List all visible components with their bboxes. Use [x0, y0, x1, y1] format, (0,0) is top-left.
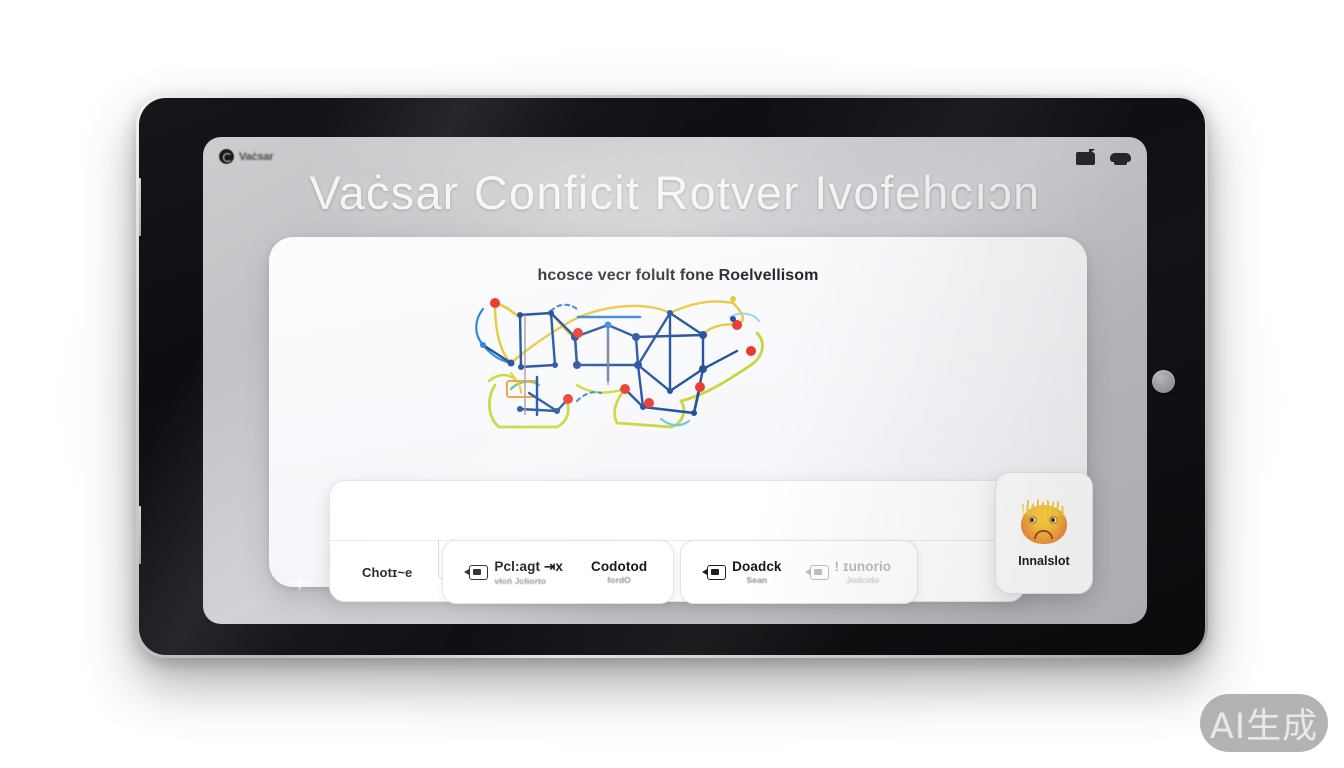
tablet-device: Vaċsar Vaċsar Conficit Rotver Ivofehcıɔn… [136, 95, 1208, 658]
toolbar-item-3-sublabel: Sean [732, 575, 781, 585]
brand-logo[interactable]: Vaċsar [219, 149, 273, 164]
bottom-toolbar: Chotɪ~e Pcl:agt ⇥x vłoń Jcłiorto [329, 480, 1025, 602]
toolbar-item-2-sublabel: fordO [591, 575, 647, 585]
toolbar-item-1-sublabel: vłoń Jcłiorto [494, 576, 563, 586]
screen-share-icon [469, 565, 488, 580]
screen-share-icon [707, 565, 726, 580]
brand-name: Vaċsar [239, 151, 273, 163]
toolbar-item-2-label: Codotod [591, 559, 647, 574]
toolbar-item-1-text: Pcl:agt ⇥x vłoń Jcłiorto [494, 559, 563, 586]
tablet-bezel: Vaċsar Vaċsar Conficit Rotver Ivofehcıɔn… [139, 98, 1205, 655]
toolbar-item-2-text: Codotod fordO [591, 559, 647, 585]
toolbar-item-4[interactable]: ! ɪunorio Jodcido [798, 559, 904, 585]
home-button[interactable] [1152, 370, 1175, 393]
status-tile[interactable]: Innalslot [995, 472, 1093, 594]
printer-icon[interactable] [1110, 149, 1131, 166]
toolbar-item-3-label: Doadck [732, 559, 781, 574]
toolbar-item-4-sublabel: Jodcido [835, 575, 892, 585]
toolbar-item-4-text: ! ɪunorio Jodcido [835, 559, 892, 585]
toolbar-item-1-label: Pcl:agt ⇥x [494, 559, 563, 575]
app-header: Vaċsar Vaċsar Conficit Rotver Ivofehcıɔn [203, 137, 1147, 237]
header-icon-group [1076, 149, 1131, 166]
screen-share-icon-disabled [810, 565, 829, 580]
ai-generated-watermark: AI生成 [1200, 694, 1328, 752]
card-heading: hcosce vecr folult fone Roelvellisom [269, 267, 1087, 285]
toolbar-divider [330, 540, 1024, 541]
toolbar-item-1[interactable]: Pcl:agt ⇥x vłoń Jcłiorto [457, 559, 575, 586]
toolbar-row: Chotɪ~e Pcl:agt ⇥x vłoń Jcłiorto [330, 543, 1024, 601]
toolbar-solo-cell[interactable]: Chotɪ~e [336, 543, 436, 601]
toolbar-group-2[interactable]: Doadck Sean ! ɪunorio Jodcido [680, 540, 918, 604]
status-tile-label: Innalslot [1018, 554, 1069, 568]
network-graph-svg [465, 289, 795, 444]
toolbar-item-2[interactable]: Codotod fordO [579, 559, 659, 585]
brand-mark-icon [219, 149, 234, 164]
page-title: Vaċsar Conficit Rotver Ivofehcıɔn [203, 165, 1147, 220]
toolbar-item-3[interactable]: Doadck Sean [695, 559, 793, 585]
toolbar-solo-label: Chotɪ~e [336, 565, 436, 580]
network-graph[interactable] [465, 289, 795, 444]
volume-down-button[interactable] [139, 506, 141, 564]
toolbar-item-3-text: Doadck Sean [732, 559, 781, 585]
toolbar-item-4-label: ! ɪunorio [835, 559, 892, 574]
folder-flag-icon[interactable] [1076, 149, 1097, 166]
frowning-face-emoji [1017, 498, 1071, 546]
toolbar-group-1[interactable]: Pcl:agt ⇥x vłoń Jcłiorto Codotod fordO [442, 540, 674, 604]
tablet-screen: Vaċsar Vaċsar Conficit Rotver Ivofehcıɔn… [203, 137, 1147, 624]
volume-up-button[interactable] [139, 178, 141, 236]
